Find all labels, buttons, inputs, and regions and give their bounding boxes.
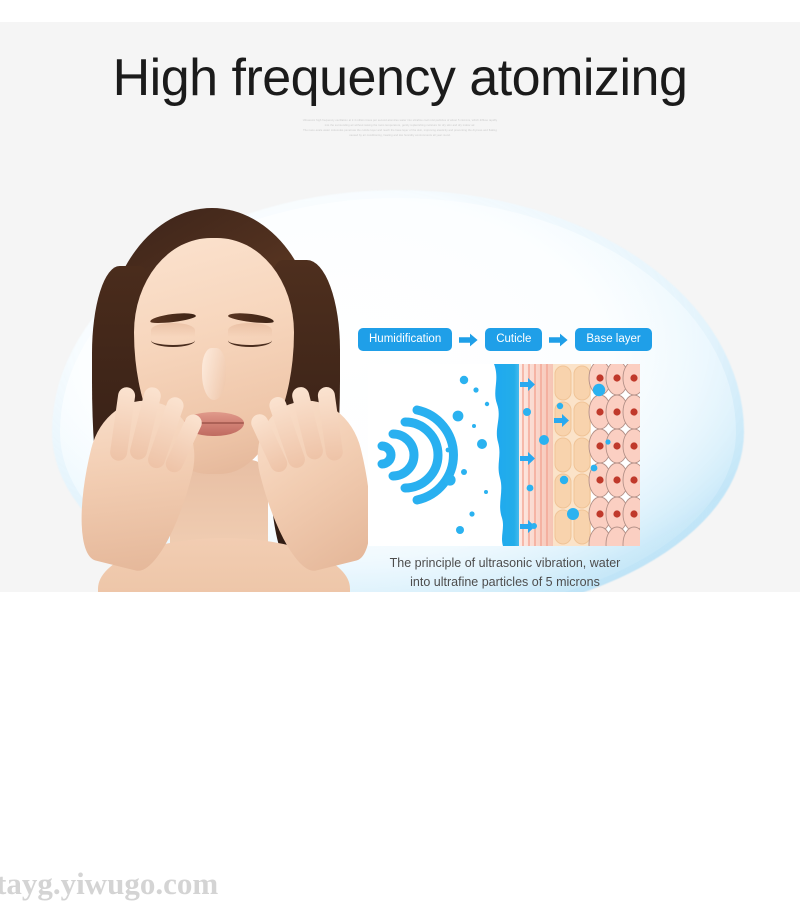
flow-step-cuticle: Cuticle: [485, 328, 542, 351]
right-arrow-icon: [459, 333, 478, 347]
model-nose: [202, 348, 226, 400]
flow-step-humidification: Humidification: [358, 328, 452, 351]
model-eye-left: [151, 334, 195, 347]
diagram-caption: The principle of ultrasonic vibration, w…: [340, 554, 670, 593]
right-arrow-icon: [549, 333, 568, 347]
cuticle-layer: [519, 364, 553, 546]
product-detail-page: High frequency atomizing Ultrasonic high…: [0, 0, 800, 910]
hero-section: High frequency atomizing Ultrasonic high…: [0, 22, 800, 592]
site-watermark: tayg.yiwugo.com: [0, 868, 218, 899]
diagram-caption-line2: into ultrafine particles of 5 microns: [340, 573, 670, 592]
skin-cross-section-diagram: [368, 364, 640, 546]
model-eye-right: [228, 334, 272, 347]
hero-subtext: Ultrasonic high frequency oscillation at…: [0, 119, 800, 139]
model-photo: [78, 202, 378, 614]
skin-penetration-flow: Humidification Cuticle Base layer: [358, 328, 652, 351]
diagram-caption-line1: The principle of ultrasonic vibration, w…: [340, 554, 670, 573]
comparison-section: 0 20 40 60 80 100 120 VS 0 20 40 60 80 1…: [0, 592, 800, 910]
flow-step-base-layer: Base layer: [575, 328, 651, 351]
page-title: High frequency atomizing: [0, 52, 800, 104]
hero-subtext-line: caused by air conditioning, heating and …: [195, 134, 605, 139]
